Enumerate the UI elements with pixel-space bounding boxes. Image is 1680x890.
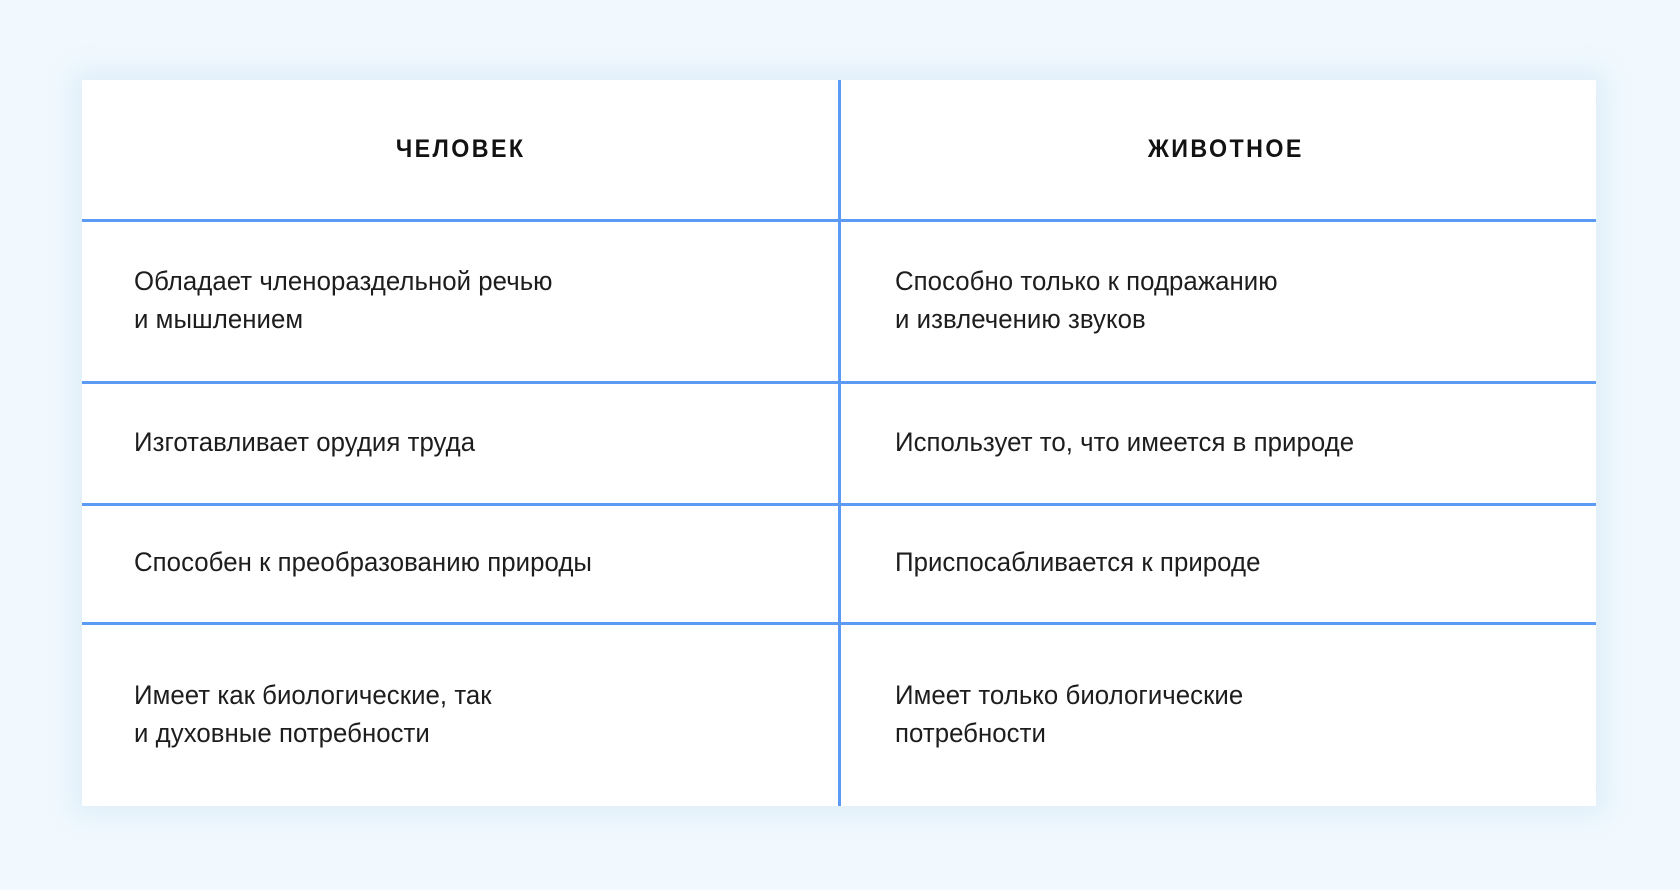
table-row: Приспосабливается к природе	[839, 503, 1596, 622]
table-row: Способно только к подражанию и извлечени…	[839, 219, 1596, 381]
cell-human-2: Изготавливает орудия труда	[134, 423, 475, 461]
cell-human-3: Способен к преобразованию природы	[134, 543, 592, 581]
cell-human-4: Имеет как биологические, так и духовные …	[134, 676, 492, 753]
table-row: Способен к преобразованию природы	[82, 503, 839, 622]
cell-animal-4: Имеет только биологические потребности	[895, 676, 1243, 753]
table-row: Имеет только биологические потребности	[839, 622, 1596, 806]
table-row: Изготавливает орудия труда	[82, 381, 839, 503]
comparison-table: ЧЕЛОВЕК ЖИВОТНОЕ Обладает членораздельно…	[82, 80, 1596, 806]
cell-animal-3: Приспосабливается к природе	[895, 543, 1260, 581]
cell-human-1: Обладает членораздельной речью и мышлени…	[134, 262, 553, 339]
column-header-human: ЧЕЛОВЕК	[396, 135, 526, 164]
cell-animal-2: Использует то, что имеется в природе	[895, 423, 1354, 461]
table-header-cell-animal: ЖИВОТНОЕ	[839, 80, 1596, 219]
column-header-animal: ЖИВОТНОЕ	[1148, 135, 1304, 164]
table-header-cell-human: ЧЕЛОВЕК	[82, 80, 839, 219]
comparison-table-card: ЧЕЛОВЕК ЖИВОТНОЕ Обладает членораздельно…	[82, 80, 1596, 806]
page-root: ЧЕЛОВЕК ЖИВОТНОЕ Обладает членораздельно…	[0, 0, 1680, 890]
cell-animal-1: Способно только к подражанию и извлечени…	[895, 262, 1278, 339]
table-row: Имеет как биологические, так и духовные …	[82, 622, 839, 806]
table-row: Обладает членораздельной речью и мышлени…	[82, 219, 839, 381]
table-row: Использует то, что имеется в природе	[839, 381, 1596, 503]
